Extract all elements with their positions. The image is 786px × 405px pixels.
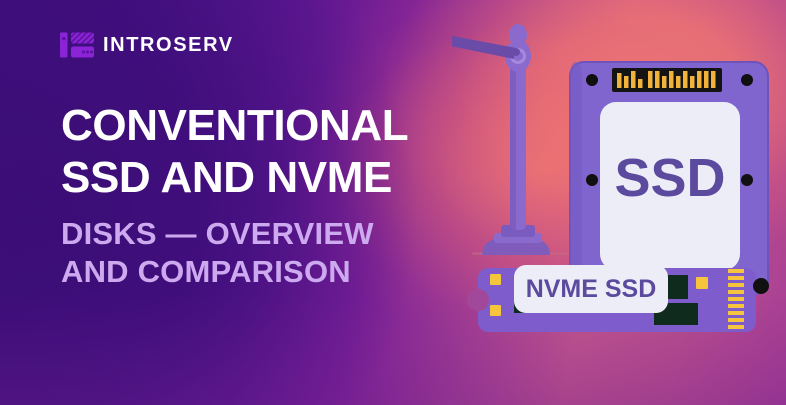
ssd-screw-hole [741, 174, 753, 186]
ssd-label-text: SSD [614, 148, 725, 208]
banner-root: INTROSERV CONVENTIONAL SSD AND NVME DISK… [0, 0, 786, 405]
ssd-screw-hole [586, 74, 598, 86]
brand-logo[interactable]: INTROSERV [60, 28, 234, 62]
headline-line-2: SSD AND NVME [61, 152, 481, 204]
nvme-card: NVME SSD [467, 265, 769, 332]
subheading-line-1: DISKS — OVERVIEW [61, 215, 481, 253]
nvme-screw-hole [753, 278, 769, 294]
subheading-line-2: AND COMPARISON [61, 253, 481, 291]
nvme-edge-contacts [728, 269, 744, 329]
headline-block: CONVENTIONAL SSD AND NVME DISKS — OVERVI… [61, 100, 481, 291]
ssd-screw-hole [586, 174, 598, 186]
server-rack-icon [60, 30, 94, 60]
hardware-illustration: SSD [452, 0, 786, 405]
headline-line-1: CONVENTIONAL [61, 100, 481, 152]
nvme-label-text: NVME SSD [526, 275, 657, 303]
ssd-drive: SSD [570, 62, 768, 294]
brand-wordmark: INTROSERV [103, 35, 234, 55]
balance-scale-icon [452, 24, 550, 255]
ssd-screw-hole [741, 74, 753, 86]
subheading-block: DISKS — OVERVIEW AND COMPARISON [61, 215, 481, 291]
